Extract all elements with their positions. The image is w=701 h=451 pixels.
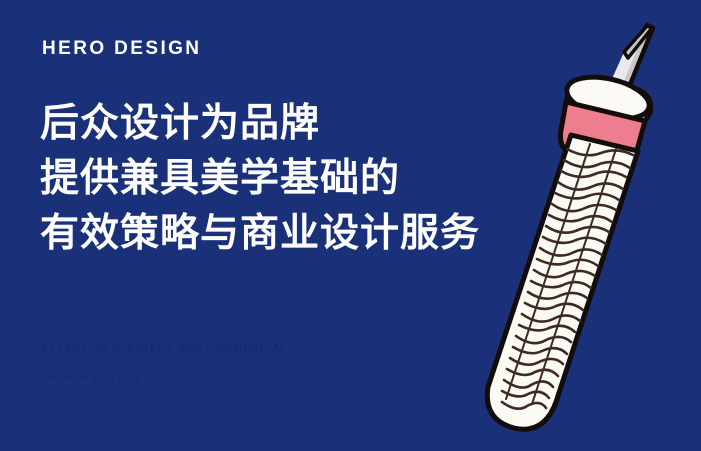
headline-line-1: 后众设计为品牌	[40, 96, 560, 151]
subtitle-line-2: DESIGN SERVICES	[42, 363, 372, 393]
brand-eyebrow: HERO DESIGN	[42, 39, 201, 58]
headline-line-2: 提供兼具美学基础的	[40, 151, 560, 206]
subtitle-line-1: EFFECTIVE STRATEGY AND COMMERCIAL	[42, 333, 372, 363]
headline-block: 后众设计为品牌 提供兼具美学基础的 有效策略与商业设计服务	[40, 96, 560, 261]
knife-collar	[563, 70, 653, 126]
knife-pink-band	[560, 102, 645, 163]
subtitle-block: EFFECTIVE STRATEGY AND COMMERCIAL DESIGN…	[42, 333, 372, 393]
poster-canvas: HERO DESIGN 后众设计为品牌 提供兼具美学基础的 有效策略与商业设计服…	[0, 0, 701, 451]
headline-line-3: 有效策略与商业设计服务	[40, 206, 560, 261]
knife-blade	[603, 25, 653, 102]
